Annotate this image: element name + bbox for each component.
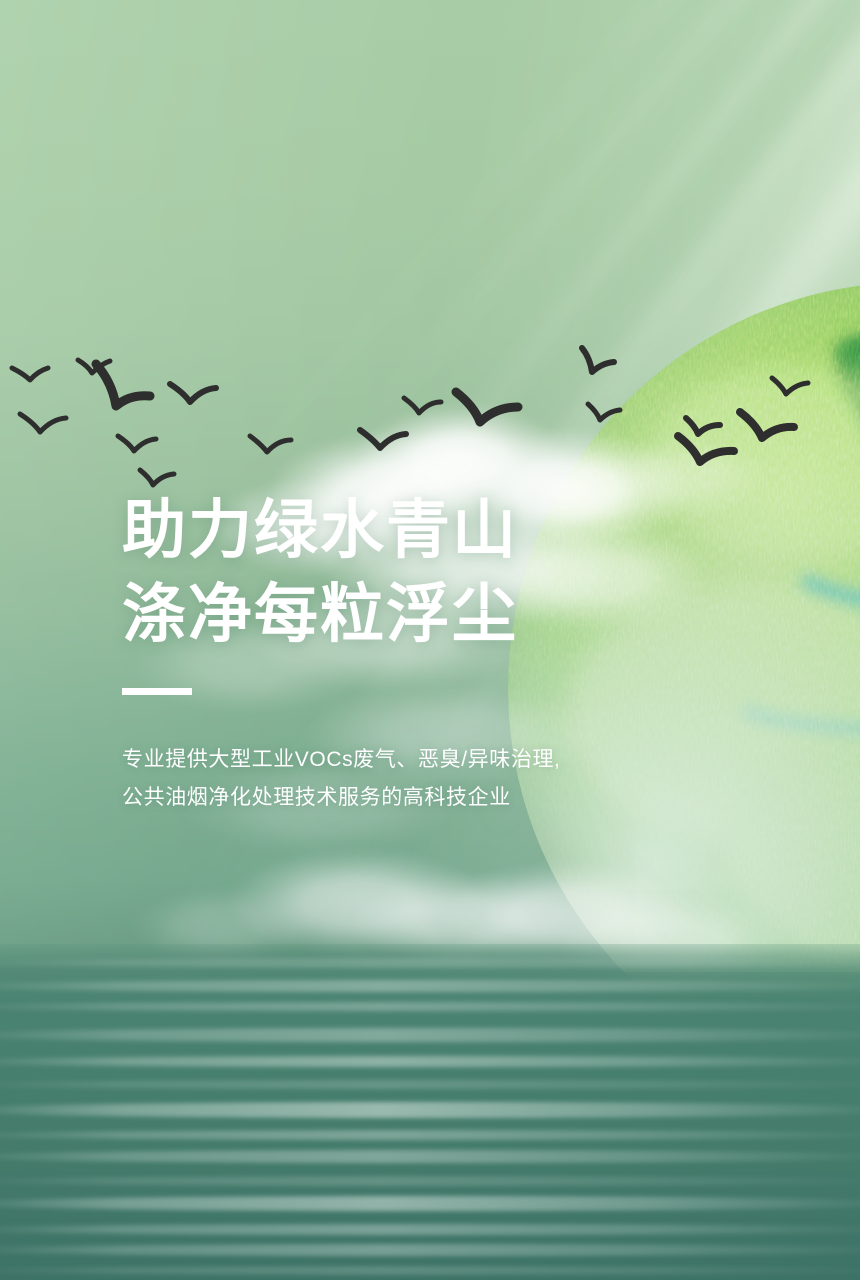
subtitle-line-1: 专业提供大型工业VOCs废气、恶臭/异味治理, [122, 741, 682, 779]
headline-divider [122, 688, 192, 695]
headline-line-1: 助力绿水青山 [122, 488, 682, 572]
headline-line-2: 涤净每粒浮尘 [122, 572, 682, 656]
eco-hero-banner: 助力绿水青山 涤净每粒浮尘 专业提供大型工业VOCs废气、恶臭/异味治理, 公共… [0, 0, 860, 1280]
hero-copy: 助力绿水青山 涤净每粒浮尘 专业提供大型工业VOCs废气、恶臭/异味治理, 公共… [122, 488, 682, 817]
subtitle-line-2: 公共油烟净化处理技术服务的高科技企业 [122, 779, 682, 817]
water-surface [0, 944, 860, 1280]
